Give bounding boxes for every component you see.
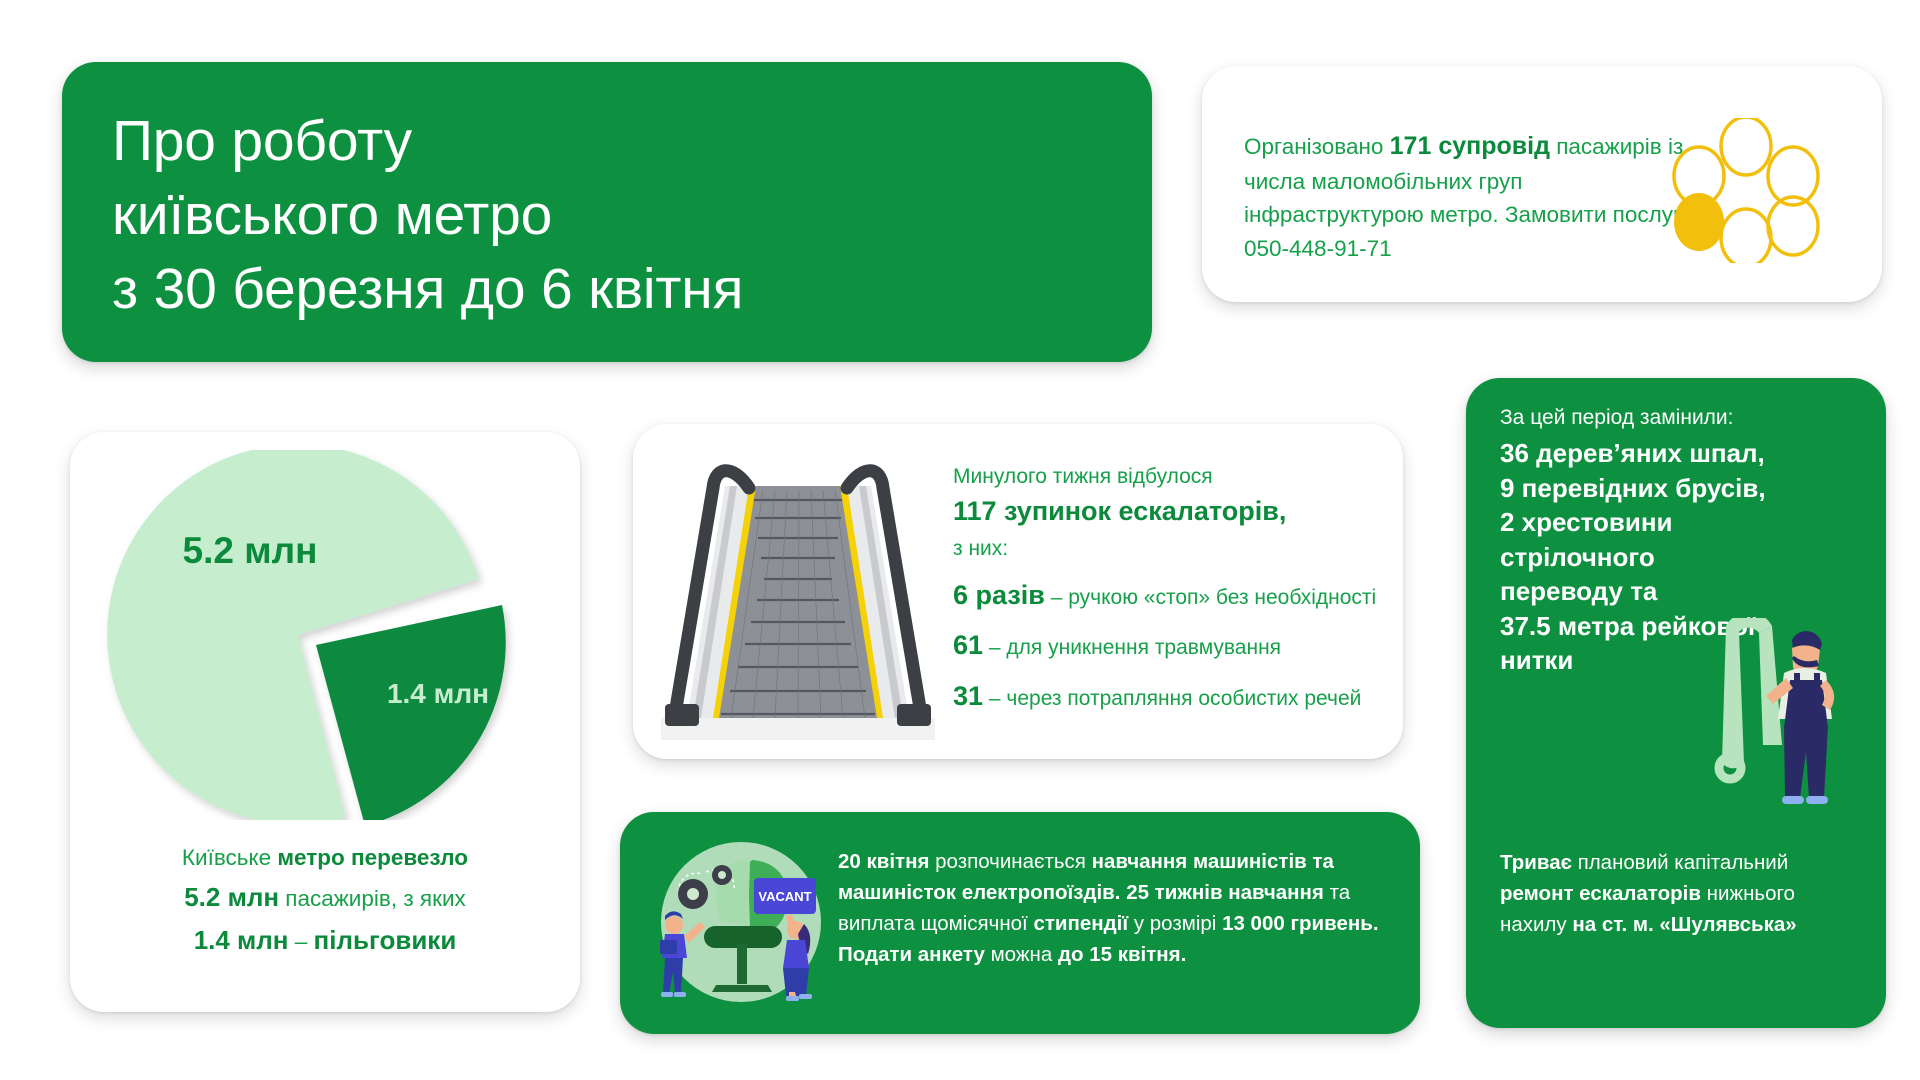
escalator-stops-card: Минулого тижня відбулося 117 зупинок еск… xyxy=(633,424,1403,759)
pie-caption-3-dash: – xyxy=(289,929,314,954)
escalator-reason-3-text: – через потрапляння особистих речей xyxy=(983,687,1361,710)
driver-training-card: VACANT 20 к xyxy=(620,812,1420,1034)
training-line1-plain: розпочинається xyxy=(929,850,1091,873)
escalator-of-which: з них: xyxy=(953,534,1383,564)
vacant-sign-label: VACANT xyxy=(758,889,811,904)
escalator-reason-1-num: 6 разів xyxy=(953,580,1045,610)
repair-head: За цей період замінили: xyxy=(1500,406,1860,430)
repair-foot-bold-a: Триває xyxy=(1500,851,1572,874)
escalator-reason-1-text: – ручкою «стоп» без необхідності xyxy=(1045,586,1376,609)
pie-caption-2-num: 5.2 млн xyxy=(184,882,279,912)
infographic-root: Про роботу київського метро з 30 березня… xyxy=(0,0,1920,1080)
escalator-reason-2: 61 – для уникнення травмування xyxy=(953,626,1383,664)
pie-caption-3-bold: пільговики xyxy=(314,925,457,955)
escalator-reason-3-num: 31 xyxy=(953,681,983,711)
training-stipend-amount: 13 000 гривень. xyxy=(1222,912,1378,935)
training-apply-action: Подати анкету xyxy=(838,943,985,966)
escort-service-card: Організовано 171 супровід пасажирів із ч… xyxy=(1202,66,1882,302)
escort-highlight: 171 супровід xyxy=(1390,132,1550,160)
track-repair-card: За цей період замінили: 36 дерев’яних шп… xyxy=(1466,378,1886,1028)
training-stipend-word: стипендії xyxy=(1033,912,1128,935)
repair-foot-plain-a: плановий капітальний xyxy=(1572,851,1788,874)
pie-caption-2-plain: пасажирів, з яких xyxy=(279,886,466,911)
pie-caption-line-3: 1.4 млн – пільговики xyxy=(70,919,580,961)
training-date-start: 20 квітня xyxy=(838,850,929,873)
pie-caption-1-plain: Київське xyxy=(182,845,277,870)
escalator-reason-1: 6 разів – ручкою «стоп» без необхідності xyxy=(953,576,1383,614)
training-text-block: 20 квітня розпочинається навчання машині… xyxy=(838,846,1398,971)
escalator-reason-2-num: 61 xyxy=(953,630,983,660)
pie-caption-1-bold: метро перевезло xyxy=(277,845,468,870)
training-line3-plain: можна xyxy=(985,943,1058,966)
training-duration: 25 тижнів навчання xyxy=(1126,881,1324,904)
passengers-pie-card: 5.2 млн 1.4 млн Київське метро перевезло… xyxy=(70,432,580,1012)
training-line2-plain-b: у розмірі xyxy=(1128,912,1222,935)
pie-caption-line-2: 5.2 млн пасажирів, з яких xyxy=(70,876,580,918)
escort-text-block: Організовано 171 супровід пасажирів із ч… xyxy=(1244,128,1699,265)
repair-foot-text: Триває плановий капітальний ремонт ескал… xyxy=(1500,848,1865,940)
pie-slice-privileged xyxy=(316,605,506,820)
escalator-text-block: Минулого тижня відбулося 117 зупинок еск… xyxy=(953,462,1383,715)
pie-label-total: 5.2 млн xyxy=(183,530,318,571)
repair-escalator-works: ремонт ескалаторів xyxy=(1500,882,1701,905)
escalator-reason-3: 31 – через потрапляння особистих речей xyxy=(953,677,1383,715)
page-title: Про роботу київського метро з 30 березня… xyxy=(62,62,1152,326)
worker-with-wrench-illustration xyxy=(1666,618,1856,823)
passengers-pie-chart: 5.2 млн 1.4 млн xyxy=(98,450,548,820)
escalator-reason-2-text: – для уникнення травмування xyxy=(983,636,1281,659)
header-card: Про роботу київського метро з 30 березня… xyxy=(62,62,1152,362)
escalator-lead: Минулого тижня відбулося xyxy=(953,462,1383,492)
pie-caption-3-num: 1.4 млн xyxy=(194,925,289,955)
escalator-photo xyxy=(653,446,943,746)
flower-petals-icon xyxy=(1666,118,1826,263)
pie-caption: Київське метро перевезло 5.2 млн пасажир… xyxy=(70,840,580,961)
pie-caption-line-1: Київське метро перевезло xyxy=(70,840,580,876)
repair-station-name: на ст. м. «Шулявська» xyxy=(1572,913,1796,936)
vacant-chair-illustration: VACANT xyxy=(644,830,839,1015)
escort-lead: Організовано xyxy=(1244,134,1390,159)
escalator-total: 117 зупинок ескалаторів, xyxy=(953,492,1383,530)
training-deadline: до 15 квітня. xyxy=(1058,943,1186,966)
pie-label-privileged: 1.4 млн xyxy=(387,678,489,709)
